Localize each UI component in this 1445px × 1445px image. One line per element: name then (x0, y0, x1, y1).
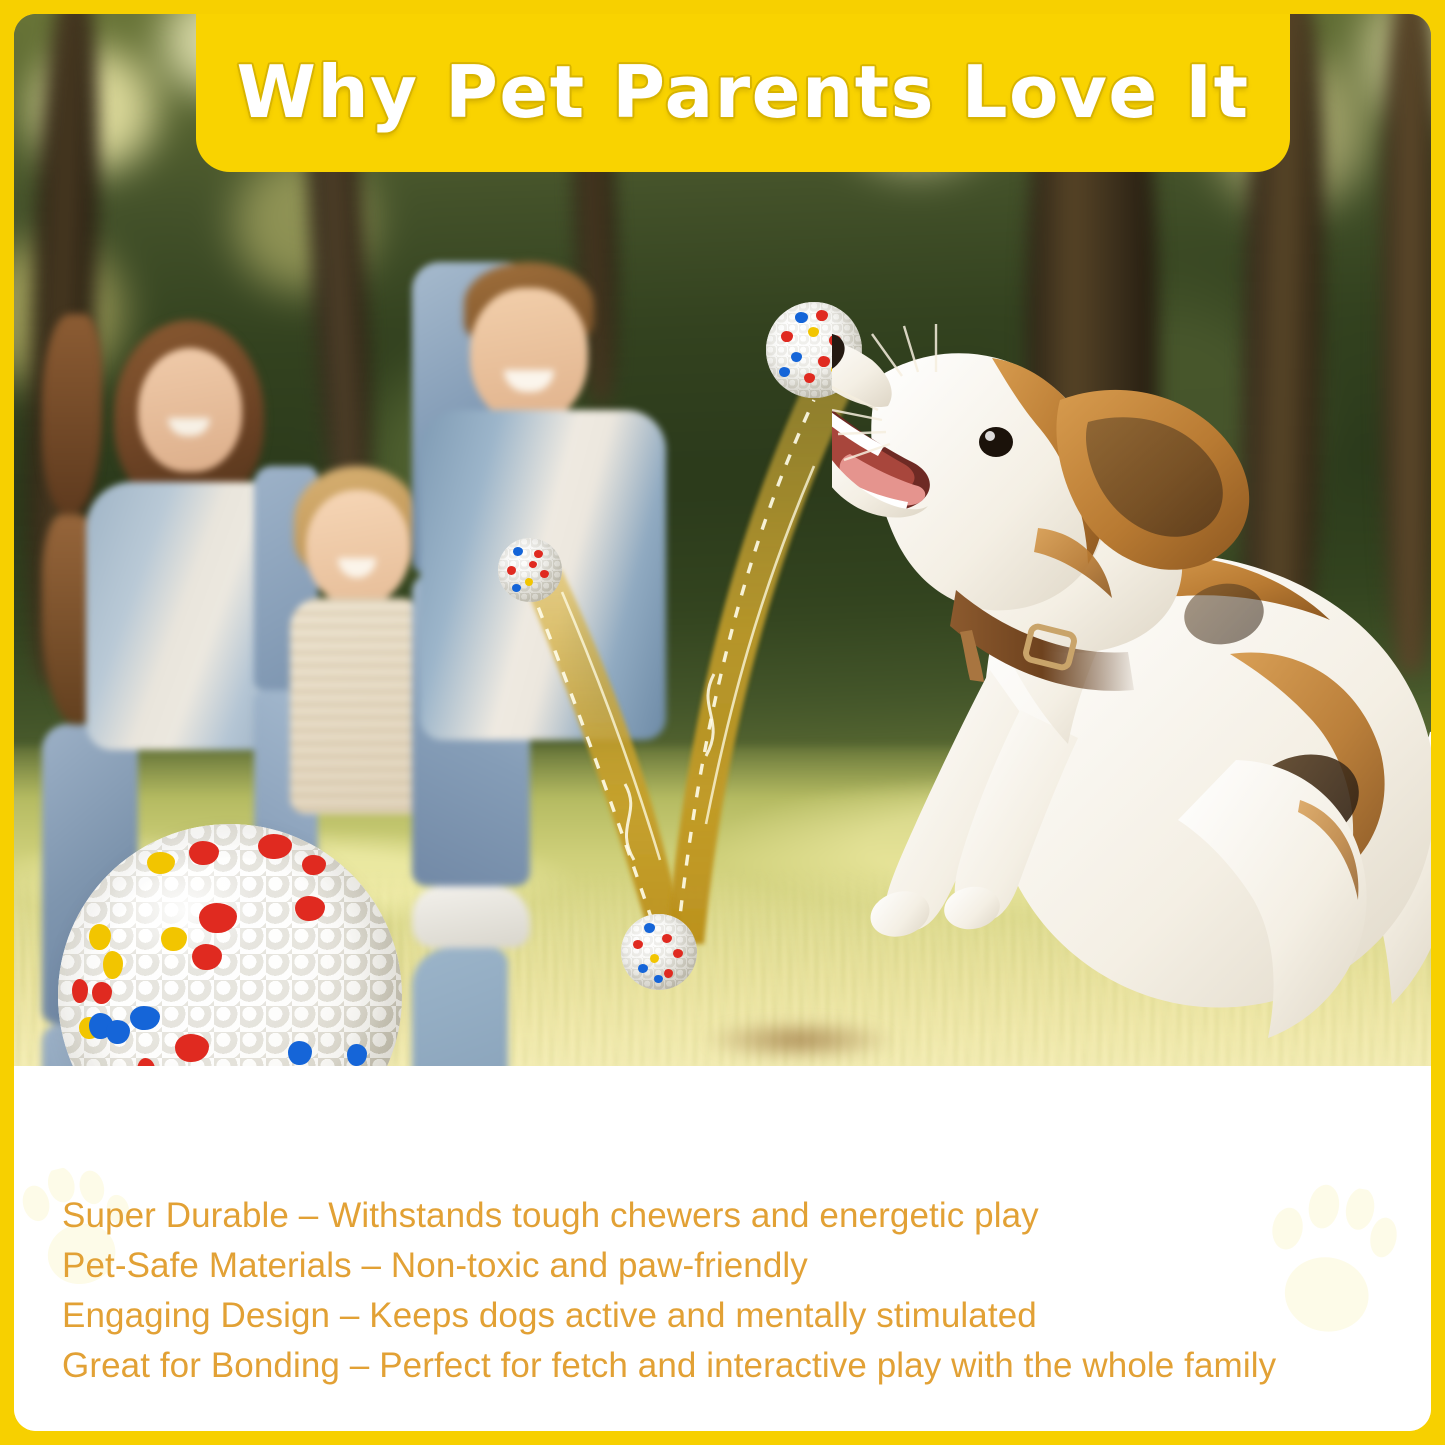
ball-bouncing (621, 914, 697, 990)
benefit-item: Great for Bonding – Perfect for fetch an… (62, 1346, 1276, 1386)
benefit-item: Super Durable – Withstands tough chewers… (62, 1196, 1039, 1236)
title-banner: Why Pet Parents Love It (196, 14, 1290, 172)
dog-jumping (832, 314, 1431, 1066)
shoe (412, 886, 530, 948)
infographic-card: Super Durable – Withstands tough chewers… (0, 0, 1445, 1445)
head (470, 288, 588, 424)
person-man (412, 262, 772, 1022)
ball-highlight (106, 852, 264, 969)
hair-strand (42, 314, 102, 514)
inner-white-card: Super Durable – Withstands tough chewers… (14, 14, 1431, 1431)
head (138, 348, 242, 472)
dog-eye (979, 427, 1013, 457)
benefits-section: Super Durable – Withstands tough chewers… (14, 1066, 1431, 1431)
head (306, 490, 410, 606)
paw-print-watermark (1239, 1172, 1415, 1356)
page-title: Why Pet Parents Love It (236, 50, 1249, 134)
benefit-item: Pet-Safe Materials – Non-toxic and paw-f… (62, 1246, 808, 1286)
dog-eye-highlight (985, 431, 995, 441)
ball-in-hand (498, 538, 562, 602)
denim-sleeve (412, 948, 508, 1066)
torso (290, 598, 430, 814)
benefit-item: Engaging Design – Keeps dogs active and … (62, 1296, 1037, 1336)
